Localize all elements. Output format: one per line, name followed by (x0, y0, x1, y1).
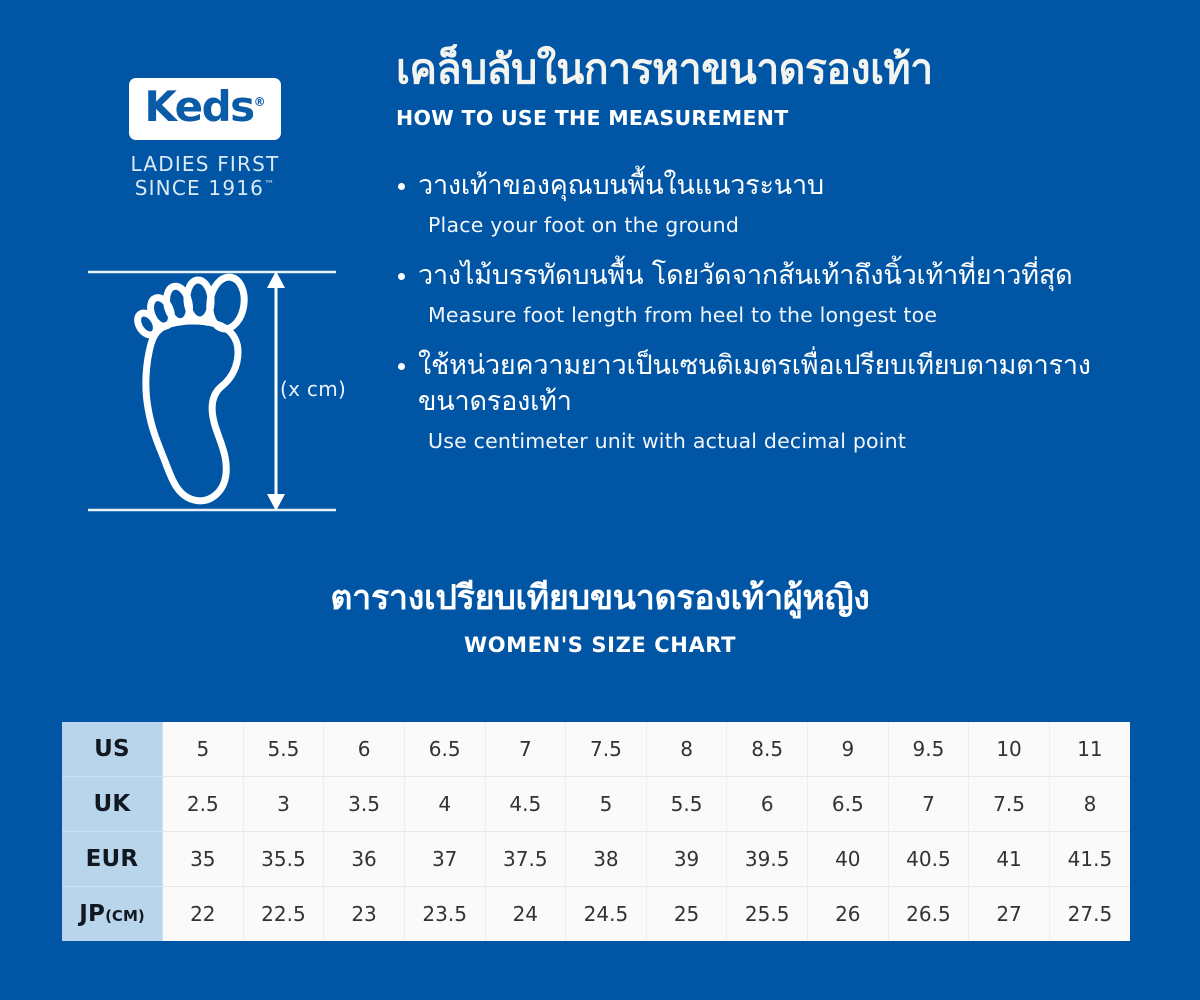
keds-wordmark: Keds® (144, 86, 265, 128)
table-cell: 5 (163, 722, 244, 777)
row-label-us: US (62, 722, 163, 777)
keds-wordmark-text: Keds (144, 82, 253, 131)
brand-tagline-line2: SINCE 1916 (135, 176, 264, 200)
table-cell: 41 (969, 832, 1050, 887)
bullet-icon (398, 183, 405, 190)
size-chart-title-thai: ตารางเปรียบเทียบขนาดรองเท้าผู้หญิง (0, 578, 1200, 619)
table-cell: 26 (808, 887, 889, 942)
row-label-jp: JP(CM) (62, 887, 163, 942)
size-chart-title-english: WOMEN'S SIZE CHART (0, 633, 1200, 657)
bullet-icon (398, 273, 405, 280)
table-row: EUR 35 35.5 36 37 37.5 38 39 39.5 40 40.… (62, 832, 1130, 887)
step-text-thai: วางไม้บรรทัดบนพื้น โดยวัดจากส้นเท้าถึงนิ… (396, 258, 1156, 294)
brand-tagline-line1: LADIES FIRST (110, 152, 300, 176)
table-cell: 37 (404, 832, 485, 887)
list-item: วางเท้าของคุณบนพื้นในแนวระนาบ Place your… (396, 168, 1156, 237)
table-cell: 3 (243, 777, 324, 832)
table-cell: 4.5 (485, 777, 566, 832)
table-cell: 11 (1049, 722, 1130, 777)
table-cell: 9 (808, 722, 889, 777)
registered-trademark-icon: ® (254, 95, 266, 109)
table-cell: 5 (566, 777, 647, 832)
table-cell: 25.5 (727, 887, 808, 942)
size-chart-table: US 5 5.5 6 6.5 7 7.5 8 8.5 9 9.5 10 11 U… (62, 722, 1130, 941)
table-cell: 35 (163, 832, 244, 887)
table-cell: 23 (324, 887, 405, 942)
table-cell: 7 (888, 777, 969, 832)
table-cell: 2.5 (163, 777, 244, 832)
table-cell: 8 (646, 722, 727, 777)
table-cell: 4 (404, 777, 485, 832)
header-block: เคล็บลับในการหาขนาดรองเท้า HOW TO USE TH… (396, 46, 1096, 130)
page-title-english: HOW TO USE THE MEASUREMENT (396, 106, 1096, 130)
table-cell: 37.5 (485, 832, 566, 887)
table-cell: 39 (646, 832, 727, 887)
table-cell: 7 (485, 722, 566, 777)
table-cell: 6.5 (404, 722, 485, 777)
row-label-jp-unit: (CM) (105, 907, 145, 925)
measure-label: (x cm) (280, 377, 346, 401)
table-cell: 8 (1049, 777, 1130, 832)
table-row: US 5 5.5 6 6.5 7 7.5 8 8.5 9 9.5 10 11 (62, 722, 1130, 777)
table-cell: 23.5 (404, 887, 485, 942)
table-cell: 22.5 (243, 887, 324, 942)
table-cell: 39.5 (727, 832, 808, 887)
table-row: UK 2.5 3 3.5 4 4.5 5 5.5 6 6.5 7 7.5 8 (62, 777, 1130, 832)
bullet-icon (398, 363, 405, 370)
size-chart-table-container: US 5 5.5 6 6.5 7 7.5 8 8.5 9 9.5 10 11 U… (62, 722, 1130, 941)
table-cell: 35.5 (243, 832, 324, 887)
step-text-thai: ใช้หน่วยความยาวเป็นเซนติเมตรเพื่อเปรียบเ… (396, 348, 1156, 420)
step-text-english: Measure foot length from heel to the lon… (428, 303, 1156, 327)
table-cell: 25 (646, 887, 727, 942)
table-cell: 6 (727, 777, 808, 832)
row-label-eur: EUR (62, 832, 163, 887)
brand-tagline: LADIES FIRST SINCE 1916™ (110, 152, 300, 201)
table-cell: 40.5 (888, 832, 969, 887)
step-thai-label: วางเท้าของคุณบนพื้นในแนวระนาบ (418, 170, 824, 201)
table-row: JP(CM) 22 22.5 23 23.5 24 24.5 25 25.5 2… (62, 887, 1130, 942)
step-text-english: Use centimeter unit with actual decimal … (428, 429, 1156, 453)
instruction-steps-list: วางเท้าของคุณบนพื้นในแนวระนาบ Place your… (396, 168, 1156, 474)
table-cell: 7.5 (969, 777, 1050, 832)
step-thai-label: ใช้หน่วยความยาวเป็นเซนติเมตรเพื่อเปรียบเ… (418, 350, 1091, 417)
table-cell: 5.5 (646, 777, 727, 832)
table-cell: 7.5 (566, 722, 647, 777)
table-cell: 36 (324, 832, 405, 887)
table-cell: 38 (566, 832, 647, 887)
row-label-uk: UK (62, 777, 163, 832)
table-cell: 22 (163, 887, 244, 942)
table-cell: 5.5 (243, 722, 324, 777)
step-text-thai: วางเท้าของคุณบนพื้นในแนวระนาบ (396, 168, 1156, 204)
table-cell: 40 (808, 832, 889, 887)
table-cell: 26.5 (888, 887, 969, 942)
table-cell: 6 (324, 722, 405, 777)
keds-logo-badge: Keds® (129, 78, 281, 140)
table-cell: 27 (969, 887, 1050, 942)
size-chart-heading: ตารางเปรียบเทียบขนาดรองเท้าผู้หญิง WOMEN… (0, 578, 1200, 657)
page-title-thai: เคล็บลับในการหาขนาดรองเท้า (396, 46, 1096, 93)
brand-logo-block: Keds® LADIES FIRST SINCE 1916™ (110, 78, 300, 201)
brand-tagline-line2-wrap: SINCE 1916™ (110, 176, 300, 200)
table-cell: 10 (969, 722, 1050, 777)
foot-outline-icon (134, 275, 248, 501)
step-text-english: Place your foot on the ground (428, 213, 1156, 237)
table-cell: 9.5 (888, 722, 969, 777)
table-cell: 3.5 (324, 777, 405, 832)
row-label-uk-text: UK (94, 791, 131, 817)
trademark-icon: ™ (264, 180, 275, 191)
table-cell: 41.5 (1049, 832, 1130, 887)
table-cell: 24 (485, 887, 566, 942)
step-thai-label: วางไม้บรรทัดบนพื้น โดยวัดจากส้นเท้าถึงนิ… (418, 260, 1073, 291)
table-cell: 24.5 (566, 887, 647, 942)
table-cell: 8.5 (727, 722, 808, 777)
row-label-jp-text: JP (79, 901, 105, 927)
row-label-eur-text: EUR (86, 846, 139, 872)
table-cell: 6.5 (808, 777, 889, 832)
table-cell: 27.5 (1049, 887, 1130, 942)
list-item: ใช้หน่วยความยาวเป็นเซนติเมตรเพื่อเปรียบเ… (396, 348, 1156, 453)
row-label-us-text: US (94, 736, 130, 762)
list-item: วางไม้บรรทัดบนพื้น โดยวัดจากส้นเท้าถึงนิ… (396, 258, 1156, 327)
